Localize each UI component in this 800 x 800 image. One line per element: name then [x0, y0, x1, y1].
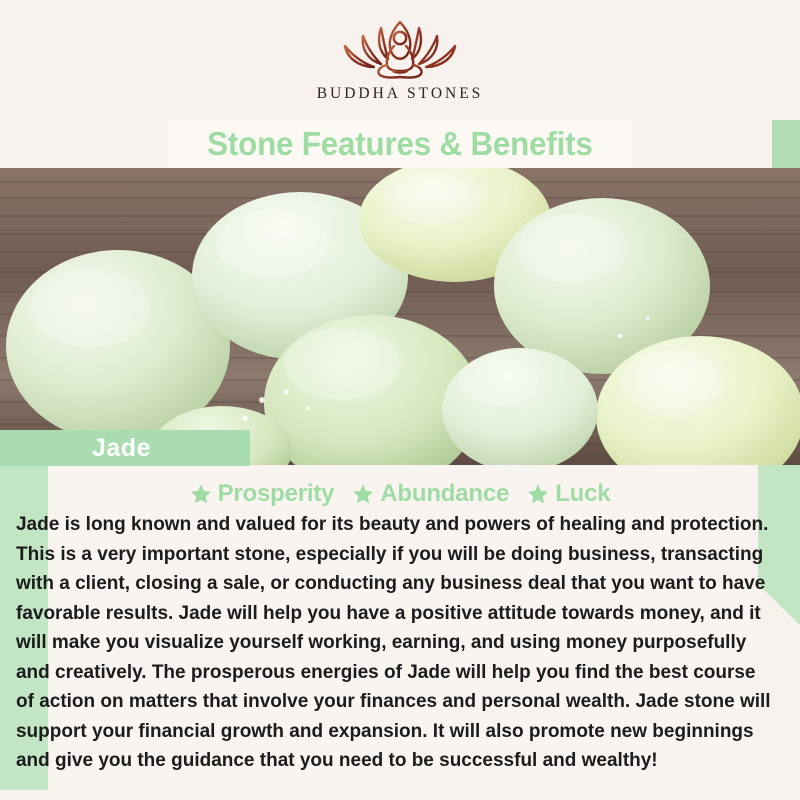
stone-info-poster: BUDDHA STONES Stone Features & Benefits: [0, 0, 800, 800]
benefit-label: Prosperity: [218, 480, 335, 508]
benefit-item: Luck: [527, 480, 610, 508]
benefit-label: Luck: [555, 480, 610, 508]
star-icon: [190, 483, 212, 505]
brand-wordmark: BUDDHA STONES: [317, 85, 484, 103]
benefits-list: Prosperity Abundance Luck: [48, 466, 752, 512]
benefit-item: Prosperity: [190, 480, 335, 508]
benefit-item: Abundance: [352, 480, 509, 508]
stone-photo: [0, 168, 800, 465]
stone-description: Jade is long known and valued for its be…: [16, 510, 774, 776]
stone-name: Jade: [92, 434, 151, 463]
lotus-meditation-icon: [325, 16, 475, 80]
star-icon: [352, 483, 374, 505]
brand-header: BUDDHA STONES: [0, 0, 800, 120]
star-icon: [527, 483, 549, 505]
stone-name-banner: Jade: [0, 430, 250, 466]
stone-photo-illustration: [0, 168, 800, 465]
content-panel: Prosperity Abundance Luck Jade is long k…: [48, 466, 752, 786]
title-banner: Stone Features & Benefits: [168, 120, 632, 168]
page-title: Stone Features & Benefits: [207, 125, 592, 163]
benefit-label: Abundance: [380, 480, 509, 508]
